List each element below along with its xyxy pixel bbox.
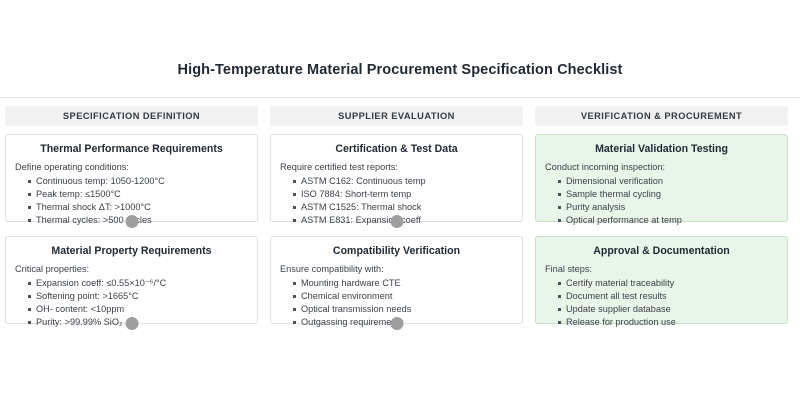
checklist-card[interactable]: Thermal Performance RequirementsDefine o…	[5, 134, 258, 222]
card-list-item: Continuous temp: 1050-1200°C	[28, 175, 248, 188]
card-list-item: Document all test results	[558, 290, 778, 303]
checklist-column: SUPPLIER EVALUATIONCertification & Test …	[270, 106, 523, 338]
card-intro: Ensure compatibility with:	[280, 263, 513, 275]
card-list-item: Update supplier database	[558, 303, 778, 316]
page-title: High-Temperature Material Procurement Sp…	[0, 60, 800, 80]
card-intro: Final steps:	[545, 263, 778, 275]
page-title-wrap: High-Temperature Material Procurement Sp…	[0, 60, 800, 80]
card-intro: Require certified test reports:	[280, 161, 513, 173]
card-list-item: OH- content: <10ppm	[28, 303, 248, 316]
card-list-item: ASTM E831: Expansion coeff	[293, 214, 513, 227]
card-list-item: Expansion coeff: ≤0.55×10⁻⁶/°C	[28, 277, 248, 290]
checklist-column: SPECIFICATION DEFINITIONThermal Performa…	[5, 106, 258, 338]
card-title: Compatibility Verification	[280, 245, 513, 258]
card-list-item: ASTM C1525: Thermal shock	[293, 201, 513, 214]
card-item-list: Dimensional verificationSample thermal c…	[545, 175, 778, 227]
card-list-item: Sample thermal cycling	[558, 188, 778, 201]
card-list-item: Release for production use	[558, 316, 778, 329]
card-list-item: Thermal cycles: >500 cycles	[28, 214, 248, 227]
card-list-item: Purity: >99.99% SiO₂	[28, 316, 248, 329]
card-title: Approval & Documentation	[545, 245, 778, 258]
checklist-card[interactable]: Compatibility VerificationEnsure compati…	[270, 236, 523, 324]
card-list-item: Outgassing requirements	[293, 316, 513, 329]
checklist-grid: SPECIFICATION DEFINITIONThermal Performa…	[5, 106, 795, 338]
card-title: Certification & Test Data	[280, 143, 513, 156]
card-title: Material Property Requirements	[15, 245, 248, 258]
card-list-item: Peak temp: ≤1500°C	[28, 188, 248, 201]
card-list-item: Chemical environment	[293, 290, 513, 303]
card-list-item: Mounting hardware CTE	[293, 277, 513, 290]
card-list-item: Certify material traceability	[558, 277, 778, 290]
card-list-item: Thermal shock ΔT: >1000°C	[28, 201, 248, 214]
connector-dot	[390, 215, 403, 228]
card-intro: Define operating conditions:	[15, 161, 248, 173]
column-header: VERIFICATION & PROCUREMENT	[535, 106, 788, 126]
card-list-item: Purity analysis	[558, 201, 778, 214]
connector-dot	[125, 215, 138, 228]
checklist-page: High-Temperature Material Procurement Sp…	[0, 0, 800, 400]
column-header: SUPPLIER EVALUATION	[270, 106, 523, 126]
card-title: Thermal Performance Requirements	[15, 143, 248, 156]
checklist-column: VERIFICATION & PROCUREMENTMaterial Valid…	[535, 106, 788, 338]
card-list-item: Dimensional verification	[558, 175, 778, 188]
connector-dot	[390, 317, 403, 330]
card-list-item: Optical transmission needs	[293, 303, 513, 316]
card-intro: Conduct incoming inspection:	[545, 161, 778, 173]
column-header: SPECIFICATION DEFINITION	[5, 106, 258, 126]
card-item-list: Certify material traceabilityDocument al…	[545, 277, 778, 329]
checklist-card[interactable]: Material Property RequirementsCritical p…	[5, 236, 258, 324]
card-list-item: ASTM C162: Continuous temp	[293, 175, 513, 188]
checklist-card[interactable]: Certification & Test DataRequire certifi…	[270, 134, 523, 222]
card-list-item: Optical performance at temp	[558, 214, 778, 227]
checklist-card[interactable]: Material Validation TestingConduct incom…	[535, 134, 788, 222]
card-intro: Critical properties:	[15, 263, 248, 275]
card-title: Material Validation Testing	[545, 143, 778, 156]
title-divider	[0, 97, 800, 98]
card-list-item: Softening point: >1665°C	[28, 290, 248, 303]
card-list-item: ISO 7884: Short-term temp	[293, 188, 513, 201]
connector-dot	[125, 317, 138, 330]
checklist-card[interactable]: Approval & DocumentationFinal steps:Cert…	[535, 236, 788, 324]
